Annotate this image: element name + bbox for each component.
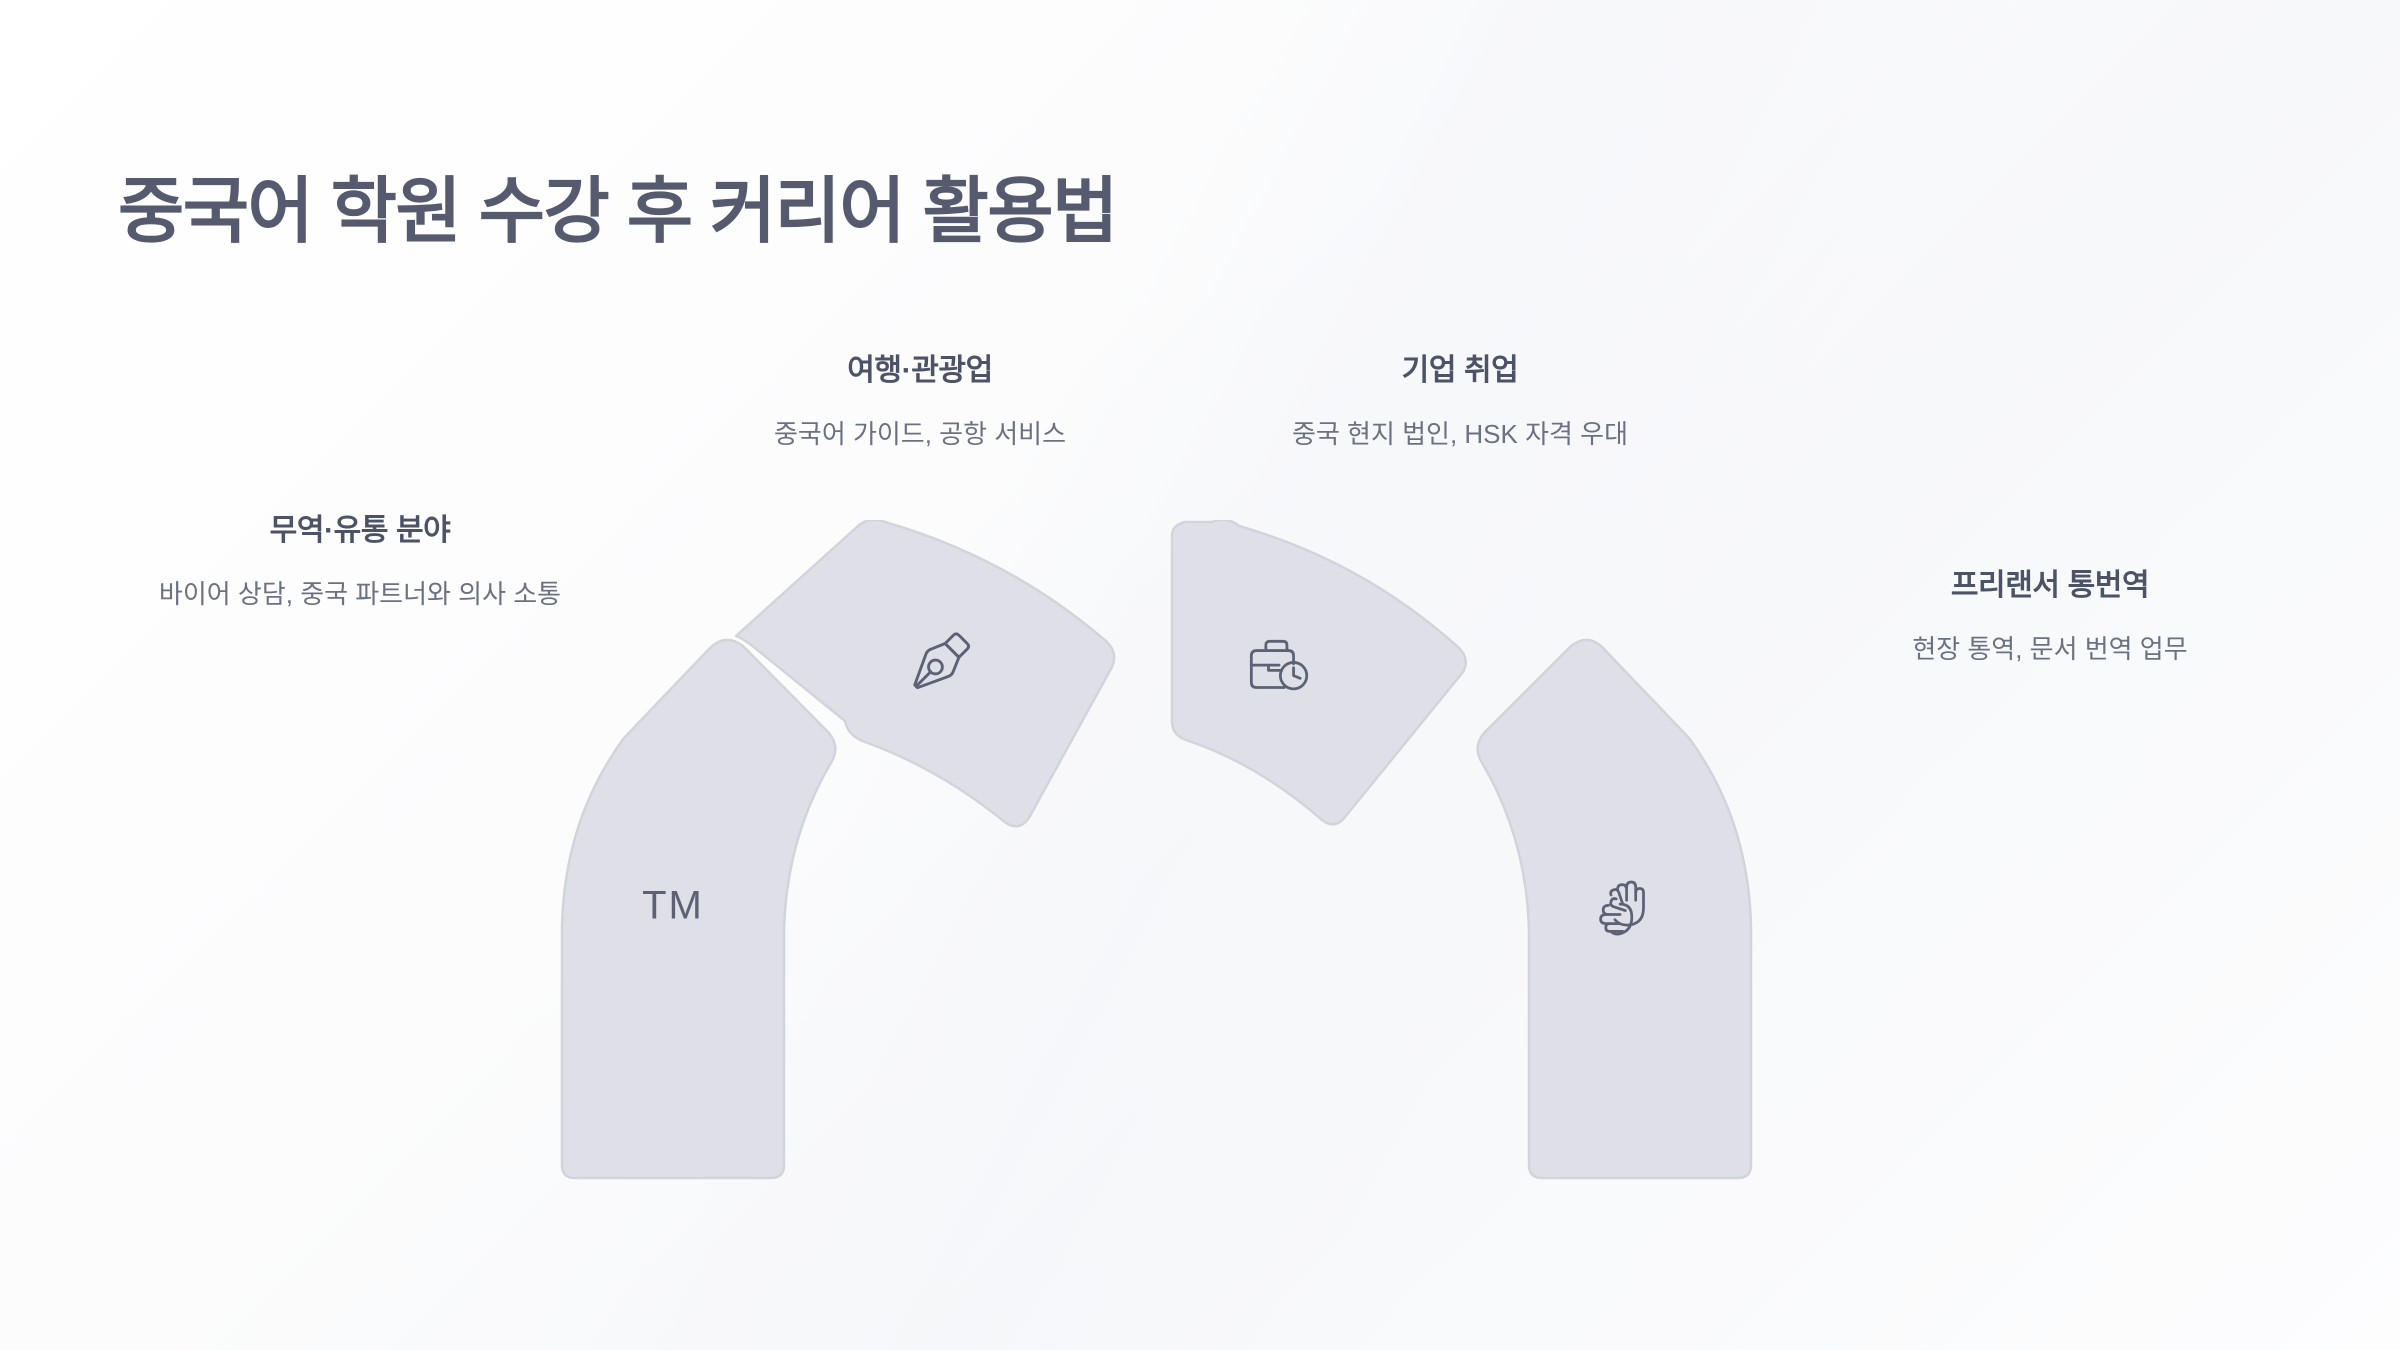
career-arch-diagram: TM — [540, 520, 1860, 1180]
page-title: 중국어 학원 수강 후 커리어 활용법 — [118, 152, 1117, 257]
callout-description: 중국어 가이드, 공항 서비스 — [660, 413, 1180, 455]
segment-glyph-tm: TM — [642, 884, 704, 928]
callout-description: 중국 현지 법인, HSK 자격 우대 — [1200, 413, 1720, 455]
callout-corporate-employment: 기업 취업 중국 현지 법인, HSK 자격 우대 — [1200, 345, 1720, 455]
arch-segment-corporate-employment[interactable] — [1172, 520, 1466, 824]
callout-title: 무역·유통 분야 — [100, 505, 620, 549]
callout-description: 현장 통역, 문서 번역 업무 — [1790, 628, 2310, 670]
arch-segment-trade-distribution[interactable]: TM — [562, 640, 835, 1178]
arch-segment-freelance-interpretation[interactable] — [1478, 640, 1751, 1178]
callout-trade-distribution: 무역·유통 분야 바이어 상담, 중국 파트너와 의사 소통 — [100, 505, 620, 615]
callout-title: 여행·관광업 — [660, 345, 1180, 389]
callout-title: 기업 취업 — [1200, 345, 1720, 389]
callout-travel-tourism: 여행·관광업 중국어 가이드, 공항 서비스 — [660, 345, 1180, 455]
callout-description: 바이어 상담, 중국 파트너와 의사 소통 — [100, 573, 620, 615]
callout-title: 프리랜서 통번역 — [1790, 560, 2310, 604]
callout-freelance-interpretation: 프리랜서 통번역 현장 통역, 문서 번역 업무 — [1790, 560, 2310, 670]
